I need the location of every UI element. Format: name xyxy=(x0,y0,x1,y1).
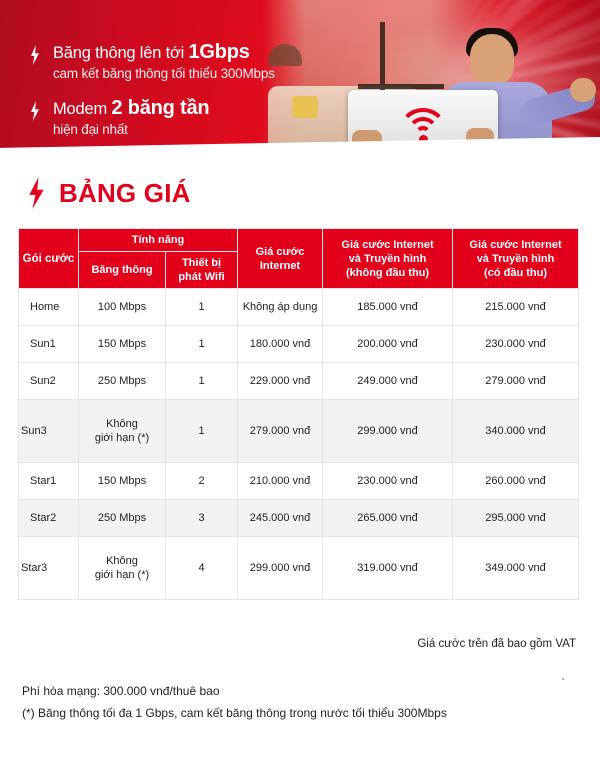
pricing-flyer: Băng thông lên tới 1Gbps cam kết băng th… xyxy=(0,0,600,761)
banner-bullet-2-line2: hiện đại nhất xyxy=(53,120,209,139)
cell-internet-price: 180.000 vnđ xyxy=(238,326,323,363)
cell-internet-price: 229.000 vnđ xyxy=(238,363,323,400)
cell-internet-tv-with-box: 260.000 vnđ xyxy=(453,463,579,500)
stray-dot-artifact xyxy=(562,678,564,680)
table-row: Star1150 Mbps2210.000 vnđ230.000 vnđ260.… xyxy=(19,463,579,500)
cell-internet-tv-with-box: 279.000 vnđ xyxy=(453,363,579,400)
table-row: Sun1150 Mbps1180.000 vnđ200.000 vnđ230.0… xyxy=(19,326,579,363)
page-title: BẢNG GIÁ xyxy=(28,177,191,209)
wifi-icon xyxy=(396,104,450,142)
cell-internet-tv-with-box: 215.000 vnđ xyxy=(453,289,579,326)
header-package: Gói cước xyxy=(19,229,79,289)
cell-internet-price: 210.000 vnđ xyxy=(238,463,323,500)
installation-fee-note: Phí hòa mạng: 300.000 vnđ/thuê bao xyxy=(22,680,447,702)
cell-package: Home xyxy=(19,289,79,326)
page-title-text: BẢNG GIÁ xyxy=(59,178,191,208)
cell-internet-price: Không áp dụng xyxy=(238,289,323,326)
cell-bandwidth: Không giới hạn (*) xyxy=(79,400,166,463)
person-head xyxy=(470,34,514,86)
header-wifi-device: Thiết bị phát Wifi xyxy=(166,252,238,289)
header-internet-price: Giá cước Internet xyxy=(238,229,323,289)
cell-internet-tv-no-box: 249.000 vnđ xyxy=(323,363,453,400)
cell-internet-price: 279.000 vnđ xyxy=(238,400,323,463)
cell-bandwidth: Không giới hạn (*) xyxy=(79,537,166,600)
cell-package: Sun1 xyxy=(19,326,79,363)
header-features-group: Tính năng xyxy=(79,229,238,252)
cell-internet-tv-with-box: 295.000 vnđ xyxy=(453,500,579,537)
banner-bullet-2-highlight: 2 băng tần xyxy=(111,97,209,119)
table-row: Sun2250 Mbps1229.000 vnđ249.000 vnđ279.0… xyxy=(19,363,579,400)
footnotes: Phí hòa mạng: 300.000 vnđ/thuê bao (*) B… xyxy=(22,680,447,724)
cell-internet-tv-with-box: 340.000 vnđ xyxy=(453,400,579,463)
cell-package: Sun3 xyxy=(19,400,79,463)
table-row: Home100 Mbps1Không áp dụng185.000 vnđ215… xyxy=(19,289,579,326)
cell-package: Star2 xyxy=(19,500,79,537)
vat-note: Giá cước trên đã bao gồm VAT xyxy=(417,638,576,650)
cell-wifi-device: 3 xyxy=(166,500,238,537)
cell-bandwidth: 150 Mbps xyxy=(79,326,166,363)
banner-bullet-1-line1: Băng thông lên tới 1Gbps xyxy=(53,42,275,63)
banner-bullet-2: Modem 2 băng tần hiện đại nhất xyxy=(30,98,209,139)
table-header-row-1: Gói cước Tính năng Giá cước Internet Giá… xyxy=(19,229,579,252)
cell-internet-tv-no-box: 230.000 vnđ xyxy=(323,463,453,500)
table-row: Sun3Không giới hạn (*)1279.000 vnđ299.00… xyxy=(19,400,579,463)
banner-bullet-1-line2: cam kết băng thông tối thiểu 300Mbps xyxy=(53,64,275,83)
table-header: Gói cước Tính năng Giá cước Internet Giá… xyxy=(19,229,579,289)
cell-package: Star1 xyxy=(19,463,79,500)
cell-wifi-device: 1 xyxy=(166,289,238,326)
cell-wifi-device: 2 xyxy=(166,463,238,500)
cell-internet-tv-no-box: 299.000 vnđ xyxy=(323,400,453,463)
cell-package: Sun2 xyxy=(19,363,79,400)
cell-wifi-device: 1 xyxy=(166,363,238,400)
table-row: Star3Không giới hạn (*)4299.000 vnđ319.0… xyxy=(19,537,579,600)
pricing-table: Gói cước Tính năng Giá cước Internet Giá… xyxy=(18,228,579,600)
banner-bullet-1: Băng thông lên tới 1Gbps cam kết băng th… xyxy=(30,42,275,83)
header-bandwidth: Băng thông xyxy=(79,252,166,289)
person-pointing-hand xyxy=(570,78,596,102)
cell-bandwidth: 100 Mbps xyxy=(79,289,166,326)
hero-banner: Băng thông lên tới 1Gbps cam kết băng th… xyxy=(0,0,600,162)
cell-wifi-device: 1 xyxy=(166,400,238,463)
cell-bandwidth: 250 Mbps xyxy=(79,363,166,400)
cell-internet-tv-no-box: 200.000 vnđ xyxy=(323,326,453,363)
cell-internet-tv-no-box: 319.000 vnđ xyxy=(323,537,453,600)
bolt-icon xyxy=(30,101,40,121)
table-body: Home100 Mbps1Không áp dụng185.000 vnđ215… xyxy=(19,289,579,600)
banner-bullet-2-line1: Modem 2 băng tần xyxy=(53,98,209,119)
bolt-icon xyxy=(30,45,40,65)
cell-wifi-device: 4 xyxy=(166,537,238,600)
cell-internet-price: 299.000 vnđ xyxy=(238,537,323,600)
cell-bandwidth: 250 Mbps xyxy=(79,500,166,537)
banner-bullet-1-highlight: 1Gbps xyxy=(188,41,249,63)
cell-internet-tv-with-box: 230.000 vnđ xyxy=(453,326,579,363)
banner-text-block: Băng thông lên tới 1Gbps cam kết băng th… xyxy=(0,0,340,162)
banner-bullet-1-prefix: Băng thông lên tới xyxy=(53,44,188,62)
bandwidth-footnote: (*) Băng thông tối đa 1 Gbps, cam kết bă… xyxy=(22,702,447,724)
table-row: Star2250 Mbps3245.000 vnđ265.000 vnđ295.… xyxy=(19,500,579,537)
bolt-icon xyxy=(28,177,45,209)
header-internet-tv-no-box: Giá cước Internet và Truyền hình (không … xyxy=(323,229,453,289)
banner-bullet-2-prefix: Modem xyxy=(53,100,111,118)
cell-bandwidth: 150 Mbps xyxy=(79,463,166,500)
cell-package: Star3 xyxy=(19,537,79,600)
header-internet-tv-with-box: Giá cước Internet và Truyền hình (có đầu… xyxy=(453,229,579,289)
cell-internet-tv-with-box: 349.000 vnđ xyxy=(453,537,579,600)
cell-internet-tv-no-box: 265.000 vnđ xyxy=(323,500,453,537)
cell-internet-price: 245.000 vnđ xyxy=(238,500,323,537)
cell-wifi-device: 1 xyxy=(166,326,238,363)
cell-internet-tv-no-box: 185.000 vnđ xyxy=(323,289,453,326)
